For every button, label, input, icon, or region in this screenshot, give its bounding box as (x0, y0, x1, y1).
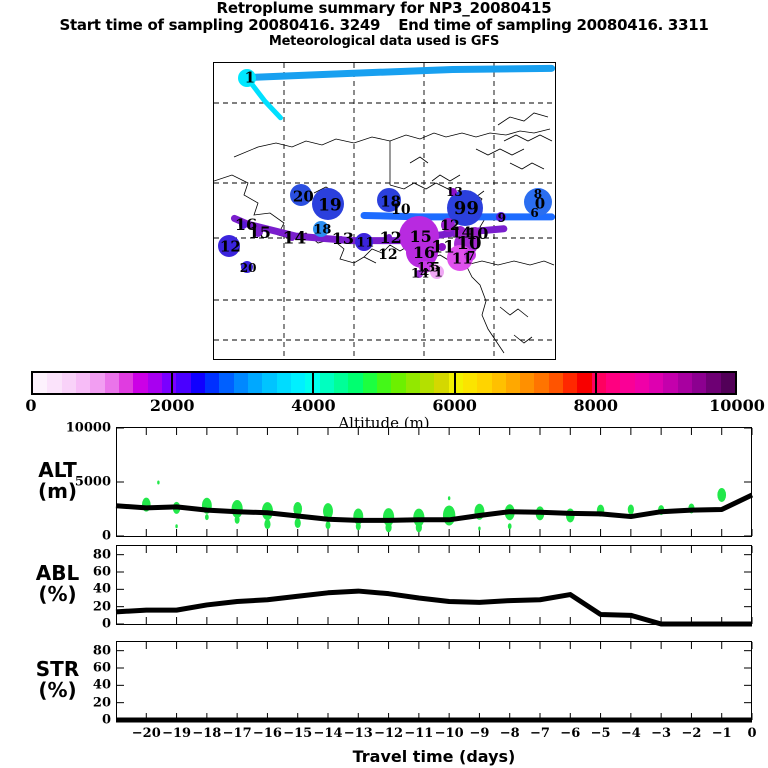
colorbar-segment (47, 373, 61, 393)
y-tick-label: 0 (102, 529, 116, 544)
colorbar-segment (119, 373, 133, 393)
trajectory-day-label: 20 (293, 189, 314, 204)
trajectory-day-label: 7 (467, 250, 475, 262)
colorbar-segment (377, 373, 391, 393)
x-tick-label: −12 (374, 726, 403, 741)
trajectory-day-label: 1 (245, 70, 255, 85)
colorbar-segment (492, 373, 506, 393)
colorbar-tick-label: 6000 (432, 396, 477, 415)
colorbar-segment (635, 373, 649, 393)
x-tick-label: −4 (621, 726, 641, 741)
x-tick-label: −15 (283, 726, 312, 741)
panel-label-abl: ABL(%) (5, 563, 110, 605)
colorbar-segment (692, 373, 706, 393)
trajectory-day-label: 14 (283, 230, 307, 247)
panel-label-line1: ABL (5, 563, 110, 584)
colorbar-segment (219, 373, 233, 393)
colorbar-divider (595, 371, 597, 395)
sampling-time-row: Start time of sampling 20080416. 3249 En… (0, 17, 768, 34)
panel-ticks (117, 546, 752, 624)
trajectory-day-label: 15 (249, 225, 271, 241)
colorbar-tick-label: 10000 (709, 396, 765, 415)
colorbar-segment (191, 373, 205, 393)
trajectory-day-label: 11 (356, 236, 374, 249)
colorbar-segment (105, 373, 119, 393)
trajectory-day-label: 12 (379, 230, 401, 246)
trajectory-day-label: 10 (391, 203, 410, 217)
y-tick-label: 0 (102, 713, 116, 728)
colorbar-segment (33, 373, 47, 393)
start-time-label: Start time of sampling 20080416. 3249 (60, 17, 381, 34)
y-tick-label: 10000 (66, 421, 116, 436)
colorbar-divider (171, 371, 173, 395)
mean-line (116, 591, 752, 624)
title-block: Retroplume summary for NP3_20080415 Star… (0, 0, 768, 49)
colorbar-segment (434, 373, 448, 393)
x-tick-label: −1 (712, 726, 732, 741)
colorbar-divider (312, 371, 314, 395)
panel-str[interactable] (116, 641, 752, 721)
trajectory-day-label: 12 (378, 248, 397, 262)
altitude-colorbar[interactable]: 0200040006000800010000 Altitude (m) (31, 371, 737, 395)
colorbar-segment (320, 373, 334, 393)
panel-alt[interactable] (116, 427, 752, 537)
retroplume-map[interactable]: 1201918109913908616151220141813111212151… (213, 62, 556, 360)
trajectory-day-label: 14 (411, 268, 429, 281)
colorbar-segment (391, 373, 405, 393)
trajectory-day-label: 18 (313, 223, 331, 236)
colorbar-segment (277, 373, 291, 393)
colorbar-segment (449, 373, 463, 393)
colorbar-segment (620, 373, 634, 393)
colorbar-segment (162, 373, 176, 393)
panel-canvas-str (117, 642, 751, 720)
colorbar-tick-label: 4000 (291, 396, 336, 415)
colorbar-segment (420, 373, 434, 393)
panel-label-alt: ALT(m) (5, 460, 110, 502)
trajectory-day-label: 9 (498, 212, 506, 224)
trajectory-day-label: 99 (454, 200, 479, 218)
x-tick-label: −8 (500, 726, 520, 741)
panel-abl[interactable] (116, 545, 752, 625)
panel-label-line2: (%) (5, 680, 110, 701)
x-tick-label: −11 (404, 726, 433, 741)
colorbar-segment (463, 373, 477, 393)
colorbar-segment (205, 373, 219, 393)
x-tick-label: −6 (560, 726, 580, 741)
x-tick-label: −19 (162, 726, 191, 741)
panel-label-line2: (m) (5, 481, 110, 502)
trajectory-day-label: 20 (240, 262, 257, 274)
x-tick-label: −17 (223, 726, 252, 741)
panel-label-line2: (%) (5, 584, 110, 605)
panel-label-str: STR(%) (5, 659, 110, 701)
colorbar-gradient (31, 371, 737, 395)
end-time-label: End time of sampling 20080416. 3311 (398, 17, 708, 34)
colorbar-segment (248, 373, 262, 393)
x-tick-label: −18 (192, 726, 221, 741)
panel-canvas-alt (117, 428, 751, 536)
trajectory-day-label: 12 (220, 239, 241, 254)
trajectory-day-label: 19 (318, 197, 342, 214)
x-tick-label: −9 (469, 726, 489, 741)
colorbar-segment (649, 373, 663, 393)
x-tick-label: −14 (314, 726, 343, 741)
x-tick-label: −2 (681, 726, 701, 741)
colorbar-segment (506, 373, 520, 393)
colorbar-segment (520, 373, 534, 393)
colorbar-segment (133, 373, 147, 393)
colorbar-segment (678, 373, 692, 393)
colorbar-tick-labels: 0200040006000800010000 (7, 396, 761, 414)
colorbar-segment (606, 373, 620, 393)
trajectory-day-label: 13 (446, 186, 463, 198)
x-tick-label: −3 (651, 726, 671, 741)
colorbar-segment (721, 373, 735, 393)
panel-label-line1: STR (5, 659, 110, 680)
colorbar-segment (348, 373, 362, 393)
colorbar-segment (549, 373, 563, 393)
colorbar-segment (663, 373, 677, 393)
colorbar-segment (76, 373, 90, 393)
page-title: Retroplume summary for NP3_20080415 (0, 0, 768, 17)
ensemble-scatter (142, 481, 726, 533)
y-tick-label: 80 (93, 643, 116, 658)
trajectory-day-label: 8 (534, 188, 542, 200)
colorbar-segment (406, 373, 420, 393)
trajectory-day-label: 6 (530, 207, 538, 219)
panel-label-line1: ALT (5, 460, 110, 481)
y-tick-label: 80 (93, 547, 116, 562)
trajectory-path (255, 68, 552, 77)
x-tick-label: −20 (132, 726, 161, 741)
colorbar-segment (62, 373, 76, 393)
met-data-label: Meteorological data used is GFS (0, 34, 768, 49)
colorbar-segment (90, 373, 104, 393)
x-tick-label: −13 (344, 726, 373, 741)
trajectory-day-label: 1 (434, 266, 443, 279)
x-tick-label: −10 (435, 726, 464, 741)
x-tick-label: −5 (591, 726, 611, 741)
colorbar-segment (291, 373, 305, 393)
x-tick-label: −16 (253, 726, 282, 741)
y-tick-label: 0 (102, 617, 116, 632)
colorbar-segment (477, 373, 491, 393)
colorbar-segment (363, 373, 377, 393)
colorbar-segment (706, 373, 720, 393)
x-axis-title: Travel time (days) (116, 747, 752, 766)
colorbar-tick-label: 2000 (150, 396, 195, 415)
colorbar-divider (454, 371, 456, 395)
colorbar-segment (577, 373, 591, 393)
colorbar-tick-label: 0 (25, 396, 36, 415)
colorbar-segment (148, 373, 162, 393)
panel-canvas-abl (117, 546, 751, 624)
x-tick-label: 0 (747, 726, 756, 741)
colorbar-segment (262, 373, 276, 393)
colorbar-segment (563, 373, 577, 393)
colorbar-segment (534, 373, 548, 393)
colorbar-tick-label: 8000 (574, 396, 619, 415)
colorbar-segment (234, 373, 248, 393)
panel-ticks (117, 642, 752, 720)
colorbar-segment (334, 373, 348, 393)
x-tick-label: −7 (530, 726, 550, 741)
colorbar-segment (176, 373, 190, 393)
trajectory-day-label: 13 (332, 231, 354, 247)
